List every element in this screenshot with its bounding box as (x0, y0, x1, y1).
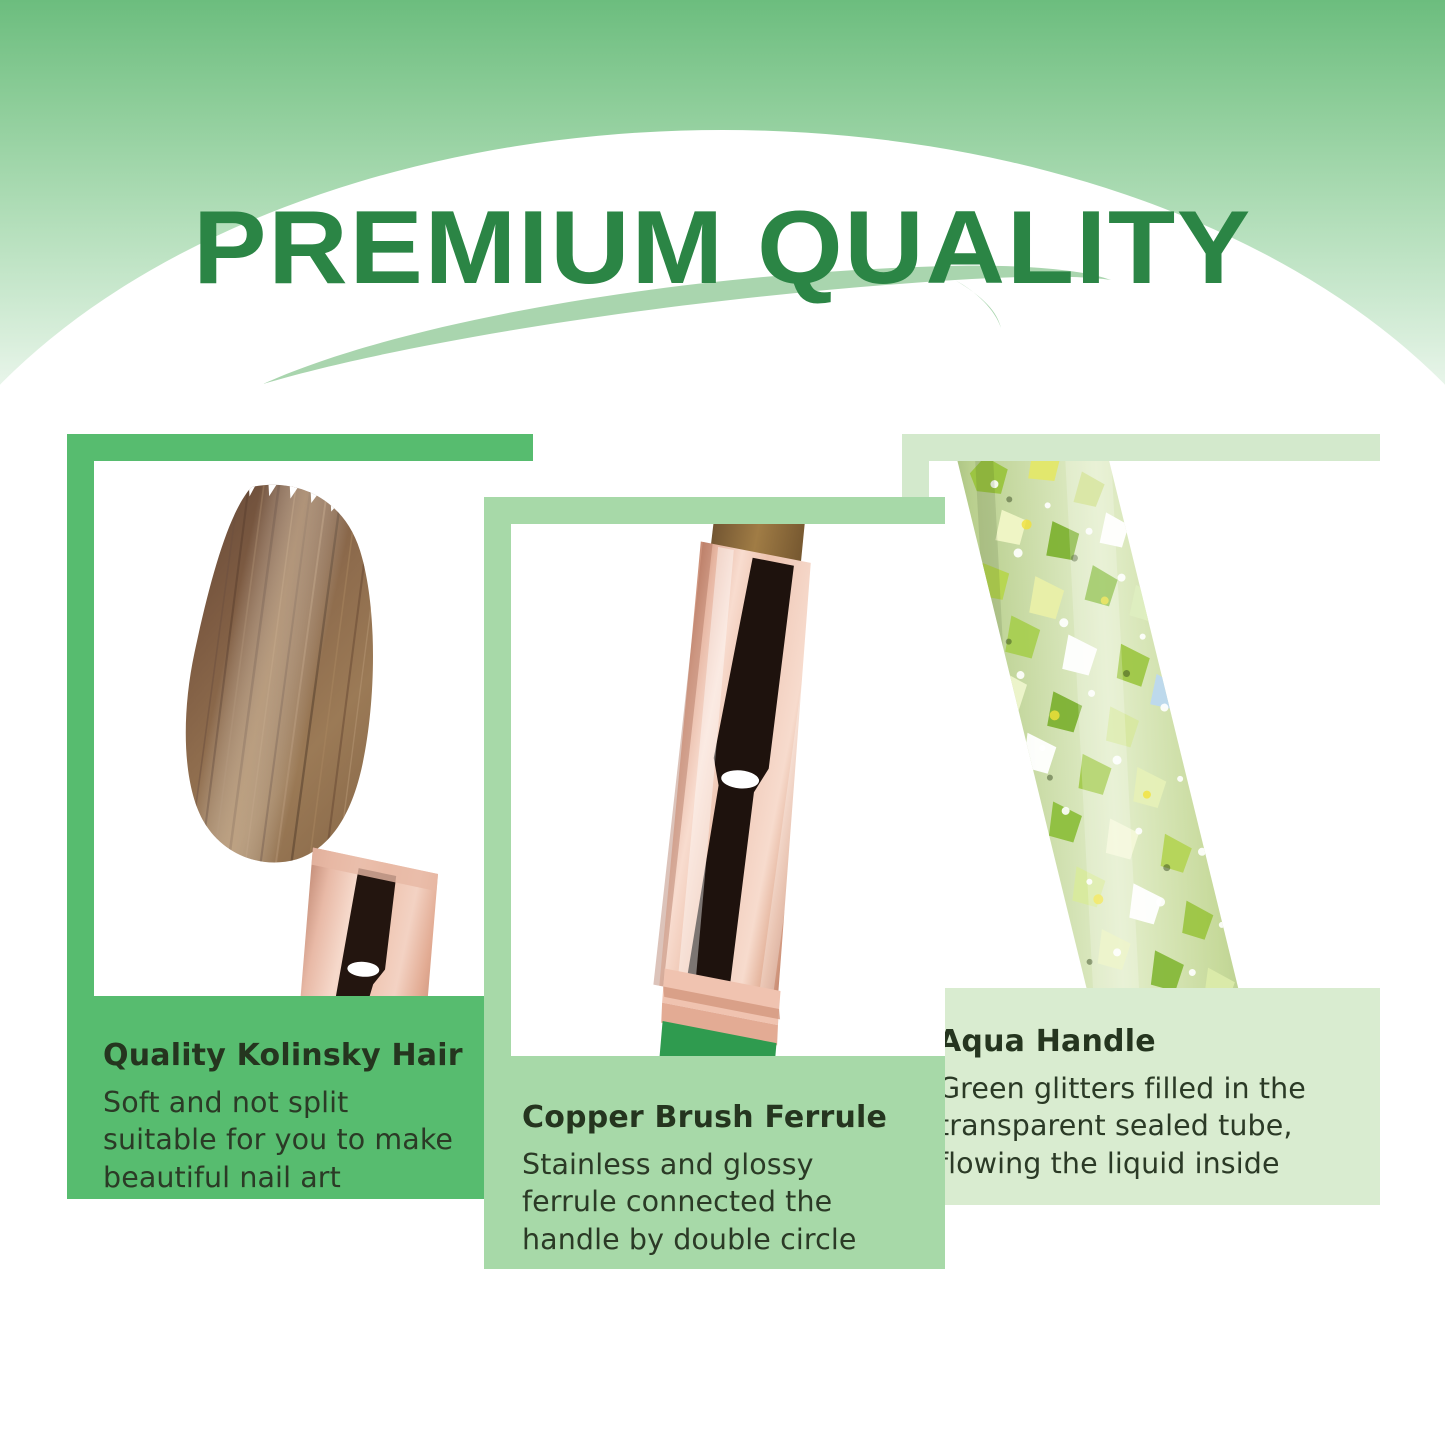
feature-card-aqua-handle: Aqua Handle Green glitters filled in the… (902, 434, 1380, 1205)
card-photo-aqua-handle (929, 461, 1380, 988)
card-photo-kolinsky-hair (94, 461, 533, 996)
copper-ferrule-illustration (511, 524, 945, 1056)
card-body: Green glitters filled in the transparent… (938, 1070, 1344, 1184)
page-title-wrap: PREMIUM QUALITY (0, 196, 1445, 300)
infographic-canvas: PREMIUM QUALITY (0, 0, 1445, 1445)
card-body: Stainless and glossy ferrule connected t… (522, 1146, 907, 1260)
kolinsky-brush-illustration (94, 461, 533, 996)
glitter-handle-illustration (929, 461, 1380, 988)
card-title: Quality Kolinsky Hair (103, 1040, 470, 1072)
card-body: Soft and not split suitable for you to m… (103, 1084, 470, 1198)
feature-card-copper-ferrule: Copper Brush Ferrule Stainless and gloss… (484, 497, 945, 1269)
feature-card-kolinsky-hair: Quality Kolinsky Hair Soft and not split… (67, 434, 533, 1199)
page-title: PREMIUM QUALITY (193, 196, 1252, 300)
card-title: Aqua Handle (938, 1026, 1344, 1058)
card-panel-aqua-handle: Aqua Handle Green glitters filled in the… (902, 988, 1380, 1205)
card-panel-kolinsky-hair: Quality Kolinsky Hair Soft and not split… (67, 996, 506, 1199)
card-title: Copper Brush Ferrule (522, 1102, 907, 1134)
card-photo-copper-ferrule (511, 524, 945, 1056)
card-panel-copper-ferrule: Copper Brush Ferrule Stainless and gloss… (484, 1056, 945, 1269)
